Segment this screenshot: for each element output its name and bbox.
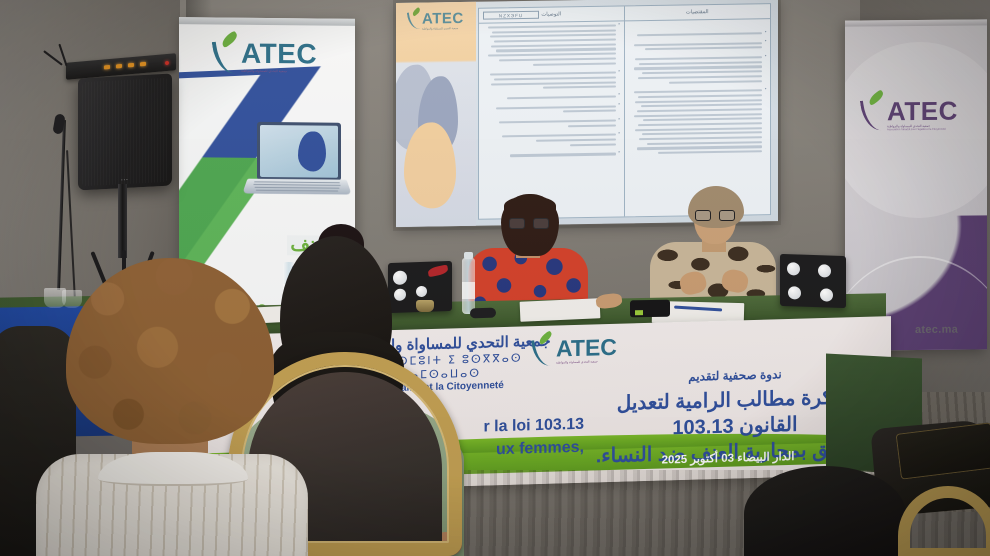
slide-column-body — [479, 21, 624, 218]
laptop-illustration-icon — [245, 122, 349, 205]
laptop-keyboard — [242, 179, 351, 195]
eyeglasses-icon — [695, 210, 735, 221]
printed-documents — [520, 298, 601, 321]
slide-decorative-panel: ATEC جمعية التحدي للمساواة والمواطنة — [396, 2, 476, 227]
slide-atec-logo: ATEC جمعية التحدي للمساواة والمواطنة — [408, 10, 472, 37]
hair-fringe — [504, 196, 556, 216]
attendee-right-foreground — [744, 466, 906, 556]
laptop-sticker — [818, 264, 831, 277]
bottle-label — [462, 282, 475, 299]
slide-column-recommendations: التوصيات — [479, 6, 625, 218]
banner-left-atec-logo: ATEC جمعية التحدي للمساواة والمواطنة — [215, 39, 335, 78]
mouse — [470, 308, 496, 319]
pa-speaker: ••• — [78, 74, 172, 191]
hair — [688, 186, 744, 228]
banner-top-rail — [845, 19, 987, 26]
banner-right-atec-logo: ATEC جمعية التحدي للمساواة والمواطنة Ass… — [863, 97, 975, 134]
banner-top-rail — [179, 17, 355, 26]
banner-atec-logo: ATEC جمعية التحدي للمساواة والمواطنة — [534, 335, 630, 370]
power-led-icon — [165, 61, 169, 65]
press-conference-photo: ATEC جمعية التحدي للمساواة والمواطنة الم… — [0, 0, 990, 556]
water-bottle — [462, 258, 475, 314]
woman-silhouette-icon — [404, 122, 456, 209]
bottle-cap — [464, 252, 473, 259]
slide-stamp: NZХЭFU — [483, 11, 539, 20]
laptop-sticker — [787, 262, 800, 275]
face-silhouette-icon — [298, 131, 326, 171]
laptop-screen — [260, 125, 338, 178]
curly-hair — [66, 258, 274, 444]
speaker-stand-pole — [118, 184, 127, 258]
laptop-sticker — [820, 288, 833, 301]
speaker-left-person — [468, 196, 588, 316]
laptop-lid — [257, 122, 341, 181]
table-microphone-base — [630, 300, 670, 318]
collar — [98, 452, 248, 486]
laptop-sticker — [788, 286, 801, 299]
eyeglasses-icon — [509, 218, 549, 229]
status-led-icon — [635, 310, 643, 315]
slide-column-provisions: المقتضيات NZХЭFU — [625, 4, 771, 216]
speaker-grill — [82, 78, 168, 187]
document-highlight — [674, 306, 722, 312]
laptop-right — [780, 254, 846, 308]
attendee-curly-hair — [36, 258, 308, 556]
banner-right-url: atec.ma — [915, 324, 958, 336]
